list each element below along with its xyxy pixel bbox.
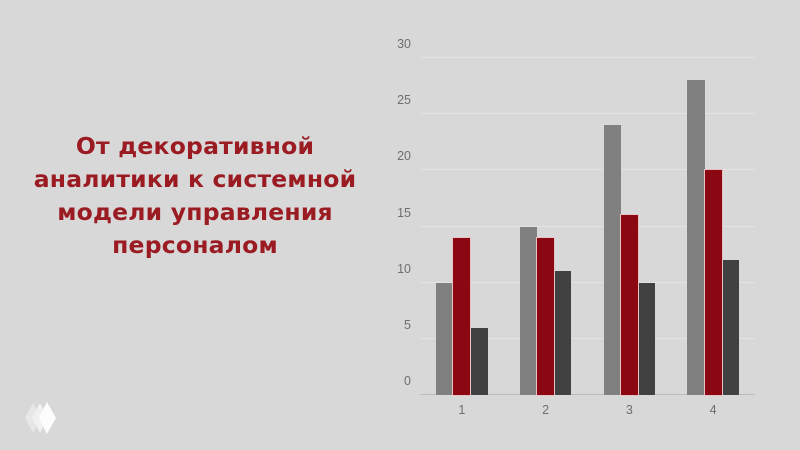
bar-4-series-2 — [705, 170, 722, 395]
x-axis-tick-label: 1 — [458, 403, 465, 417]
x-axis-tick-label: 2 — [542, 403, 549, 417]
x-axis-tick-label: 3 — [626, 403, 633, 417]
bar-4-series-3 — [722, 260, 739, 395]
nested-diamonds-logo — [13, 395, 67, 441]
bar-4-series-1 — [687, 80, 704, 395]
bar-1-series-2 — [453, 238, 470, 395]
bar-3-series-3 — [638, 283, 655, 395]
slide-canvas: От декоративной аналитики к системной мо… — [0, 0, 800, 450]
title-block: От декоративной аналитики к системной мо… — [0, 130, 390, 262]
bar-2-series-2 — [537, 238, 554, 395]
bar-chart: 0510152025301234 — [383, 40, 783, 430]
bar-2-series-1 — [520, 227, 537, 396]
bar-1-series-1 — [436, 283, 453, 395]
y-axis-tick-label: 5 — [404, 318, 411, 332]
bar-3-series-1 — [604, 125, 621, 395]
logo-svg — [13, 395, 67, 441]
y-axis-tick-label: 15 — [397, 206, 411, 220]
plot-area: 0510152025301234 — [420, 58, 755, 395]
bar-3-series-2 — [621, 215, 638, 395]
y-axis-tick-label: 30 — [397, 37, 411, 51]
bar-1-series-3 — [470, 328, 487, 395]
bar-2-series-3 — [554, 271, 571, 395]
gridline: 25 — [420, 113, 755, 114]
y-axis-tick-label: 10 — [397, 262, 411, 276]
gridline: 30 — [420, 57, 755, 58]
y-axis-tick-label: 25 — [397, 93, 411, 107]
x-axis-tick-label: 4 — [710, 403, 717, 417]
page-title: От декоративной аналитики к системной мо… — [0, 130, 390, 262]
y-axis-tick-label: 0 — [404, 374, 411, 388]
y-axis-tick-label: 20 — [397, 149, 411, 163]
